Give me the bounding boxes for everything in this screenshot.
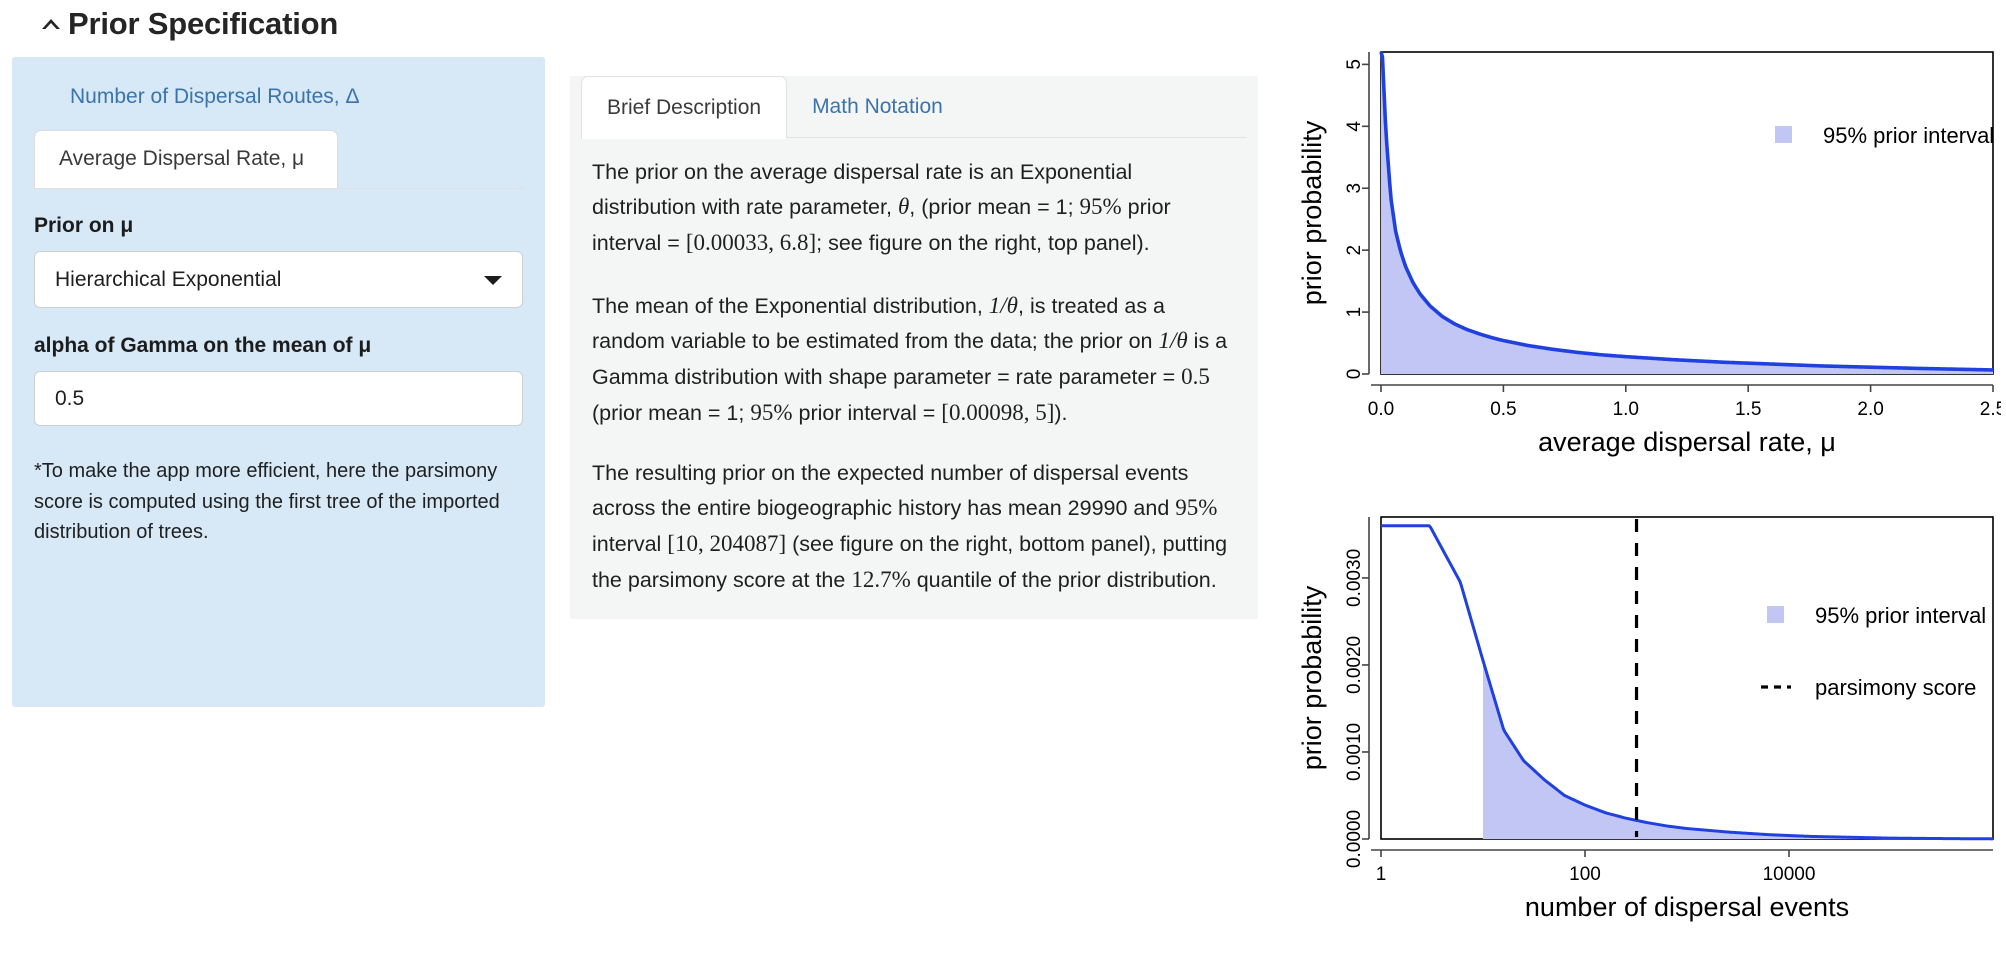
p3-text-b: interval <box>592 532 667 556</box>
svg-text:0.0: 0.0 <box>1368 399 1394 420</box>
prior-on-mu-select[interactable]: Hierarchical Exponential <box>34 251 523 308</box>
description-paragraph-2: The mean of the Exponential distribution… <box>592 288 1232 431</box>
sidebar-tab-dispersal-routes[interactable]: Number of Dispersal Routes, Δ <box>34 81 523 110</box>
svg-text:parsimony score: parsimony score <box>1815 675 1976 700</box>
svg-text:0.0020: 0.0020 <box>1344 636 1365 694</box>
p3-text-a: The resulting prior on the expected numb… <box>592 461 1188 520</box>
prior-on-mu-value: Hierarchical Exponential <box>55 268 281 292</box>
p2-one-over-theta-2: 1/θ <box>1158 328 1187 353</box>
sidebar-tab-dispersal-rate[interactable]: Average Dispersal Rate, μ <box>34 130 338 188</box>
description-body: The prior on the average dispersal rate … <box>570 138 1258 597</box>
p1-interval: [0.00033, 6.8] <box>686 230 816 255</box>
p2-interval: [0.00098, 5] <box>941 400 1054 425</box>
svg-text:0: 0 <box>1344 369 1365 380</box>
svg-text:0.5: 0.5 <box>1490 399 1516 420</box>
p2-text-d: (prior mean = 1; <box>592 401 750 425</box>
tab-math-notation[interactable]: Math Notation <box>787 76 968 138</box>
svg-text:5: 5 <box>1344 59 1365 70</box>
p1-percent: 95% <box>1080 194 1122 219</box>
svg-text:2: 2 <box>1344 245 1365 256</box>
p2-text-a: The mean of the Exponential distribution… <box>592 294 989 318</box>
p2-text-e: prior interval = <box>793 401 942 425</box>
prior-plots: 0.00.51.01.52.02.5average dispersal rate… <box>1295 40 2001 945</box>
svg-text:10000: 10000 <box>1763 864 1816 885</box>
p3-interval: [10, 204087] <box>667 531 786 556</box>
svg-text:1: 1 <box>1376 864 1387 885</box>
description-panel: Brief Description Math Notation The prio… <box>570 76 1258 619</box>
sidebar-tab-underline <box>34 188 523 189</box>
top-chart: 0.00.51.01.52.02.5average dispersal rate… <box>1295 40 2001 480</box>
alpha-gamma-value: 0.5 <box>55 387 84 411</box>
prior-specification-sidebar: Number of Dispersal Routes, Δ Average Di… <box>12 57 545 707</box>
svg-text:prior probability: prior probability <box>1297 585 1327 770</box>
p2-text-f: ). <box>1054 401 1067 425</box>
sidebar-footnote: *To make the app more efficient, here th… <box>34 456 521 547</box>
chevron-up-icon[interactable] <box>36 9 66 39</box>
p1-theta: θ <box>898 194 909 219</box>
bottom-chart-svg: 110010000number of dispersal events0.000… <box>1295 505 2001 945</box>
bottom-chart: 110010000number of dispersal events0.000… <box>1295 505 2001 945</box>
sidebar-tabstrip: Number of Dispersal Routes, Δ Average Di… <box>34 57 523 188</box>
top-chart-svg: 0.00.51.01.52.02.5average dispersal rate… <box>1295 40 2001 480</box>
svg-text:0.0010: 0.0010 <box>1344 723 1365 781</box>
svg-text:average dispersal rate, μ: average dispersal rate, μ <box>1538 427 1836 457</box>
p2-one-over-theta: 1/θ <box>989 293 1018 318</box>
alpha-gamma-input[interactable]: 0.5 <box>34 371 523 426</box>
p1-text-d: ; see figure on the right, top panel). <box>816 231 1149 255</box>
svg-text:2.0: 2.0 <box>1857 399 1883 420</box>
svg-text:3: 3 <box>1344 183 1365 194</box>
p3-text-d: quantile of the prior distribution. <box>911 568 1217 592</box>
svg-text:100: 100 <box>1569 864 1601 885</box>
p1-text-b: , (prior mean = 1; <box>909 195 1079 219</box>
panel-header[interactable]: Prior Specification <box>36 8 338 39</box>
svg-text:2.5: 2.5 <box>1980 399 2001 420</box>
description-paragraph-1: The prior on the average dispersal rate … <box>592 156 1232 261</box>
tab-brief-description[interactable]: Brief Description <box>581 76 787 139</box>
p2-percent: 95% <box>750 400 792 425</box>
svg-text:prior probability: prior probability <box>1297 120 1327 305</box>
svg-text:1: 1 <box>1344 307 1365 318</box>
chevron-down-icon[interactable] <box>482 273 504 287</box>
svg-text:4: 4 <box>1344 121 1365 132</box>
svg-text:0.0000: 0.0000 <box>1344 810 1365 868</box>
prior-on-mu-label: Prior on μ <box>34 214 523 238</box>
svg-text:0.0030: 0.0030 <box>1344 549 1365 607</box>
svg-text:95% prior interval: 95% prior interval <box>1823 123 1994 148</box>
svg-text:1.0: 1.0 <box>1613 399 1639 420</box>
description-paragraph-3: The resulting prior on the expected numb… <box>592 457 1232 597</box>
alpha-gamma-label: alpha of Gamma on the mean of μ <box>34 334 523 358</box>
svg-text:95% prior interval: 95% prior interval <box>1815 603 1986 628</box>
svg-text:1.5: 1.5 <box>1735 399 1761 420</box>
page-title: Prior Specification <box>68 8 338 39</box>
p2-value: 0.5 <box>1181 364 1210 389</box>
p3-percent: 95% <box>1175 495 1217 520</box>
p3-quantile: 12.7% <box>851 567 910 592</box>
svg-text:number of dispersal events: number of dispersal events <box>1525 892 1849 922</box>
description-tabstrip: Brief Description Math Notation <box>570 76 1258 138</box>
